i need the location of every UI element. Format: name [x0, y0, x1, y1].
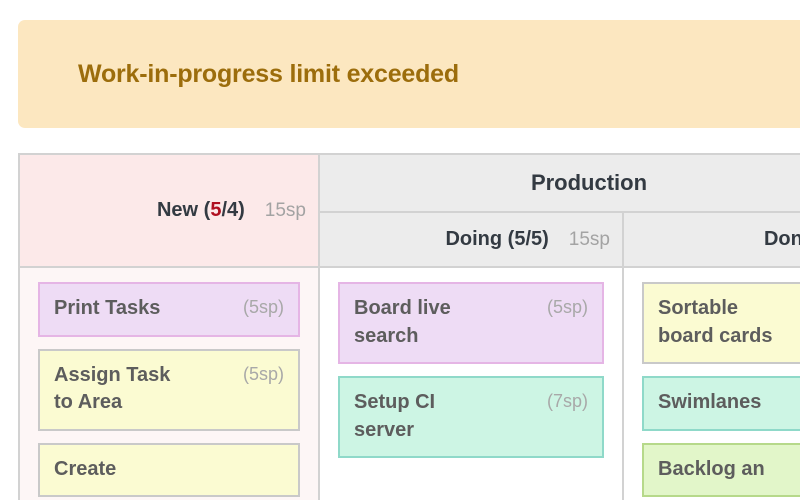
card[interactable]: Board live search (5sp): [338, 282, 604, 364]
card-points: (7sp): [547, 389, 588, 412]
card-title: Create: [54, 456, 116, 484]
card[interactable]: Sortable board cards: [642, 282, 800, 364]
card[interactable]: Print Tasks (5sp): [38, 282, 300, 337]
column-title-new: New (5/4): [157, 199, 245, 222]
alert-message: Work-in-progress limit exceeded: [78, 60, 459, 89]
card-title: Board live search: [354, 295, 451, 350]
board-group-production: Production Doing (5/5) 15sp Done (4) Boa: [320, 155, 800, 500]
card-title: Setup CI server: [354, 389, 435, 444]
column-title-new-prefix: New (: [157, 199, 210, 221]
kanban-board-page: Work-in-progress limit exceeded New (5/4…: [0, 0, 800, 500]
card-title: Swimlanes: [658, 389, 761, 417]
column-title-done-prefix: Done (: [764, 228, 800, 250]
board-row: New (5/4) 15sp Print Tasks (5sp) Assign …: [20, 155, 800, 500]
column-title-new-suffix: /4): [221, 199, 244, 221]
group-title: Production: [531, 170, 647, 196]
card[interactable]: Backlog an: [642, 443, 800, 498]
wip-limit-alert-banner: Work-in-progress limit exceeded: [18, 20, 800, 128]
column-count-doing: 5: [514, 228, 525, 250]
column-body-doing: Board live search (5sp) Setup CI server …: [320, 268, 624, 500]
kanban-board: New (5/4) 15sp Print Tasks (5sp) Assign …: [18, 153, 800, 500]
column-title-doing-suffix: /5): [525, 228, 548, 250]
column-points-doing: 15sp: [569, 229, 610, 251]
card[interactable]: Swimlanes: [642, 376, 800, 431]
column-header-row: Doing (5/5) 15sp Done (4): [320, 213, 800, 268]
card-title: Sortable board cards: [658, 295, 772, 350]
card[interactable]: Assign Task to Area (5sp): [38, 349, 300, 431]
card-title: Assign Task to Area: [54, 362, 170, 417]
group-header-production[interactable]: Production: [320, 155, 800, 213]
column-title-doing: Doing (5/5): [445, 228, 548, 251]
column-points-new: 15sp: [265, 200, 306, 222]
column-title-done: Done (4): [764, 228, 800, 251]
card-title: Backlog an: [658, 456, 765, 484]
card-points: (5sp): [547, 295, 588, 318]
column-body-new: Print Tasks (5sp) Assign Task to Area (5…: [20, 268, 318, 500]
column-title-doing-prefix: Doing (: [445, 228, 514, 250]
column-count-new: 5: [210, 199, 221, 221]
board-column-new: New (5/4) 15sp Print Tasks (5sp) Assign …: [20, 155, 320, 500]
column-body-row: Board live search (5sp) Setup CI server …: [320, 268, 800, 500]
card-title: Print Tasks: [54, 295, 160, 323]
column-header-done[interactable]: Done (4): [624, 213, 800, 268]
card-points: (5sp): [243, 295, 284, 318]
card-points: (5sp): [243, 362, 284, 385]
column-body-done: Sortable board cards Swimlanes Backlog a…: [624, 268, 800, 500]
column-header-doing[interactable]: Doing (5/5) 15sp: [320, 213, 624, 268]
column-header-new[interactable]: New (5/4) 15sp: [20, 155, 318, 268]
card[interactable]: Setup CI server (7sp): [338, 376, 604, 458]
card[interactable]: Create: [38, 443, 300, 498]
